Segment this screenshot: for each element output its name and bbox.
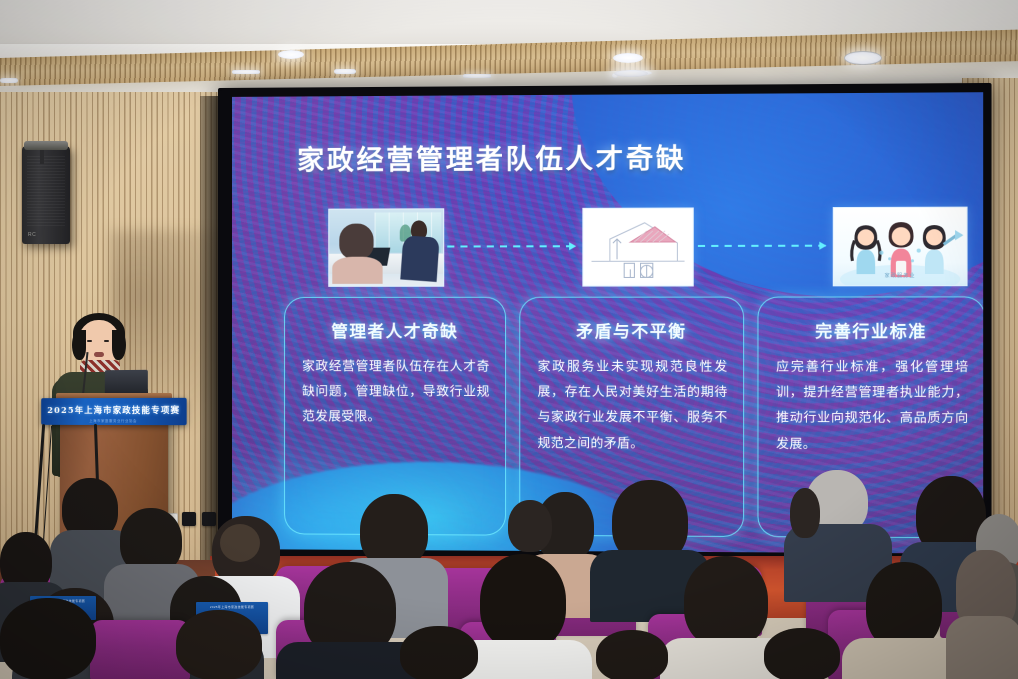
ceiling-downlight-3 xyxy=(463,74,491,78)
slide-card-3-title: 完善行业标准 xyxy=(759,318,984,343)
ceiling-downlight-1 xyxy=(278,50,304,59)
seat-name-card-text: 2025年上海市家政技能专项赛 xyxy=(196,605,268,609)
presenter-mouth xyxy=(94,352,104,357)
slide-card-1-title: 管理者人才奇缺 xyxy=(285,318,505,342)
slide-card-1-body: 家政经营管理者队伍存在人才奇缺问题，管理缺位，导致行业规范发展受限。 xyxy=(302,353,490,429)
slide-card-2-body: 家政服务业未实现规范良性发展，存在人民对美好生活的期待与家政行业发展不平衡、服务… xyxy=(538,353,728,455)
podium-banner-subtext: 上海市家庭服务业行业协会 xyxy=(41,418,186,423)
ceiling-downlight-2 xyxy=(334,69,356,74)
slide-card-3-body: 应完善行业标准，强化管理培训，提升经营管理者执业能力，推动行业向规范化、高品质方… xyxy=(776,353,969,456)
podium-banner: 2025年上海市家政技能专项赛 上海市家庭服务业行业协会 xyxy=(41,398,186,425)
ceiling-downlight-10 xyxy=(0,78,18,83)
wall-speaker: RC xyxy=(22,146,70,244)
conference-room-photo: RC 家政经营管理者队伍人才奇缺 xyxy=(0,0,1018,679)
audience-area: 2025年上海市家政技能专项赛 2025年上海市家政技能专项赛 xyxy=(0,470,1018,679)
podium-banner-text: 2025年上海市家政技能专项赛 xyxy=(41,404,186,416)
ceiling-downlight-4 xyxy=(613,53,643,63)
speaker-mount xyxy=(40,150,44,164)
presenter-hair-left xyxy=(72,330,86,360)
ceiling-downlight-9 xyxy=(232,70,260,74)
speaker-grill xyxy=(27,156,65,226)
speaker-brand-label: RC xyxy=(28,232,36,238)
slide-card-2-title: 矛盾与不平衡 xyxy=(520,318,743,342)
seat[interactable] xyxy=(90,620,190,679)
ceiling-downlight-7 xyxy=(614,70,648,77)
presenter-hair-right xyxy=(112,330,126,360)
ceiling-downlight-8 xyxy=(844,51,882,65)
